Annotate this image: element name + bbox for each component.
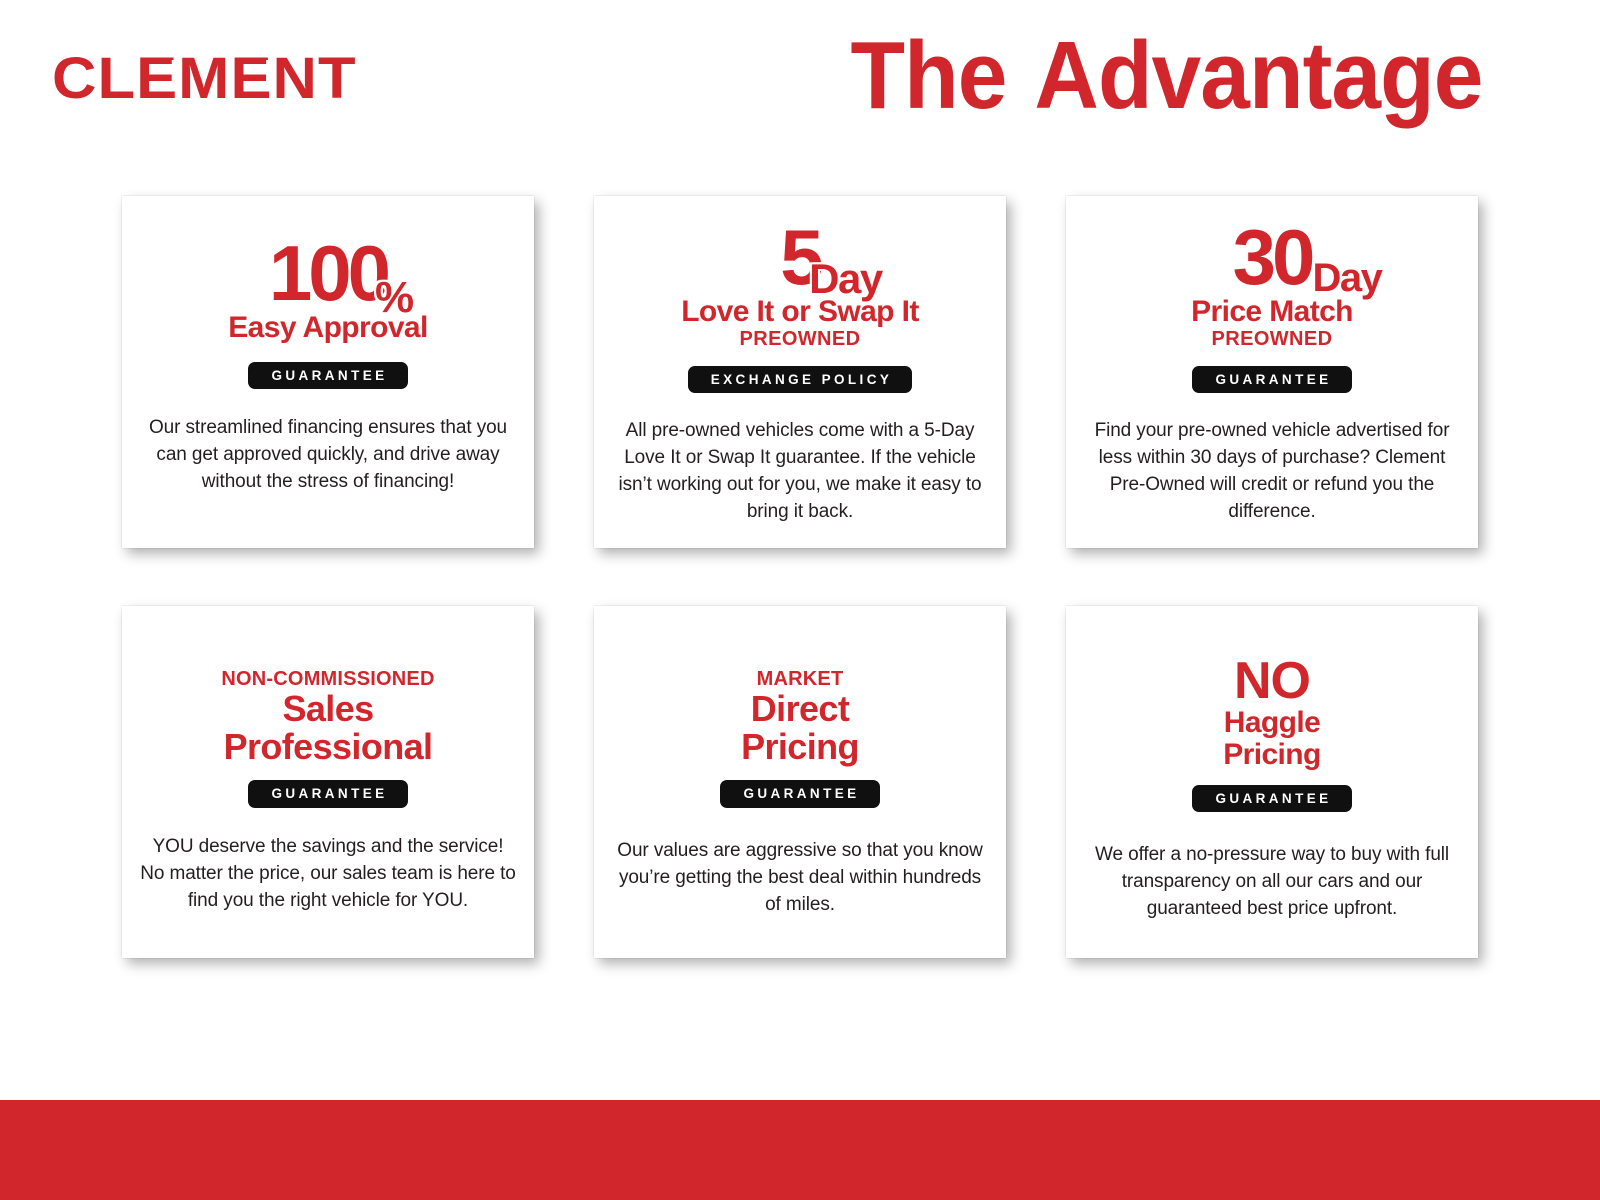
card-easy-approval[interactable]: 100 % Easy Approval GUARANTEE Our stream… bbox=[122, 196, 534, 548]
headline-block: MARKET Direct Pricing bbox=[612, 668, 988, 766]
big-number: 30 bbox=[1233, 218, 1312, 296]
card-body-text: All pre-owned vehicles come with a 5-Day… bbox=[612, 418, 988, 526]
page-title: TheAdvantage bbox=[850, 28, 1482, 124]
number-lockup: 5 Day bbox=[780, 218, 819, 296]
badge-wrap: GUARANTEE bbox=[1192, 366, 1351, 394]
badge-wrap: GUARANTEE bbox=[1192, 785, 1351, 813]
headline-subtitle: PREOWNED bbox=[612, 328, 988, 350]
headline-line-2: Pricing bbox=[1084, 739, 1460, 771]
headline-block: 5 Day Love It or Swap It PREOWNED bbox=[612, 218, 988, 350]
headline-block: NO Haggle Pricing bbox=[1084, 656, 1460, 771]
logo-letter: M bbox=[178, 50, 230, 108]
percent-mark: % bbox=[375, 276, 413, 320]
day-word: Day bbox=[809, 258, 882, 300]
badge-wrap: GUARANTEE bbox=[720, 780, 879, 808]
headline-eyebrow: NO bbox=[1084, 656, 1460, 707]
page-title-the: The bbox=[850, 22, 1006, 129]
card-body-text: We offer a no-pressure way to buy with f… bbox=[1084, 842, 1460, 923]
headline-line-2: Pricing bbox=[612, 728, 988, 766]
logo-letter: E bbox=[230, 50, 272, 108]
logo-letter: L bbox=[97, 50, 136, 108]
badge-wrap: GUARANTEE bbox=[248, 780, 407, 808]
headline-block: 100 % Easy Approval bbox=[140, 234, 516, 344]
card-body-text: Our streamlined financing ensures that y… bbox=[140, 415, 516, 496]
card-non-commissioned-sales[interactable]: NON-COMMISSIONED Sales Professional GUAR… bbox=[122, 606, 534, 958]
logo-letter: C bbox=[52, 50, 97, 108]
headline-block: NON-COMMISSIONED Sales Professional bbox=[140, 668, 516, 766]
status-badge: GUARANTEE bbox=[248, 780, 407, 808]
page-title-advantage: Advantage bbox=[1034, 22, 1482, 129]
status-badge: GUARANTEE bbox=[1192, 785, 1351, 813]
logo-letter: E bbox=[136, 50, 178, 108]
headline-line-2: Professional bbox=[140, 728, 516, 766]
headline-block: 30 Day Price Match PREOWNED bbox=[1084, 218, 1460, 350]
advantage-card-grid: 100 % Easy Approval GUARANTEE Our stream… bbox=[0, 196, 1600, 958]
clement-logo: CLEMENT bbox=[52, 50, 357, 108]
day-word: Day bbox=[1312, 258, 1381, 298]
card-love-it-or-swap-it[interactable]: 5 Day Love It or Swap It PREOWNED EXCHAN… bbox=[594, 196, 1006, 548]
headline-line-1: Sales bbox=[140, 690, 516, 728]
card-body-text: Our values are aggressive so that you kn… bbox=[612, 838, 988, 919]
headline-line-1: Direct bbox=[612, 690, 988, 728]
footer-red-bar bbox=[0, 1100, 1600, 1200]
status-badge: GUARANTEE bbox=[1192, 366, 1351, 394]
headline-eyebrow: MARKET bbox=[612, 668, 988, 690]
status-badge: GUARANTEE bbox=[248, 362, 407, 390]
number-lockup: 100 % bbox=[269, 234, 387, 312]
badge-wrap: GUARANTEE bbox=[248, 362, 407, 390]
page-header: CLEMENT TheAdvantage bbox=[0, 0, 1600, 180]
headline-line-1: Haggle bbox=[1084, 707, 1460, 739]
big-number: 100 bbox=[269, 234, 387, 312]
status-badge: EXCHANGE POLICY bbox=[688, 366, 913, 394]
card-price-match[interactable]: 30 Day Price Match PREOWNED GUARANTEE Fi… bbox=[1066, 196, 1478, 548]
card-market-direct-pricing[interactable]: MARKET Direct Pricing GUARANTEE Our valu… bbox=[594, 606, 1006, 958]
logo-letter: T bbox=[318, 50, 357, 108]
status-badge: GUARANTEE bbox=[720, 780, 879, 808]
number-lockup: 30 Day bbox=[1233, 218, 1312, 296]
logo-letter: N bbox=[273, 50, 318, 108]
card-body-text: YOU deserve the savings and the service!… bbox=[140, 834, 516, 915]
headline-eyebrow: NON-COMMISSIONED bbox=[140, 668, 516, 690]
headline-subtitle: PREOWNED bbox=[1084, 328, 1460, 350]
card-body-text: Find your pre-owned vehicle advertised f… bbox=[1084, 418, 1460, 526]
badge-wrap: EXCHANGE POLICY bbox=[688, 366, 913, 394]
card-no-haggle-pricing[interactable]: NO Haggle Pricing GUARANTEE We offer a n… bbox=[1066, 606, 1478, 958]
